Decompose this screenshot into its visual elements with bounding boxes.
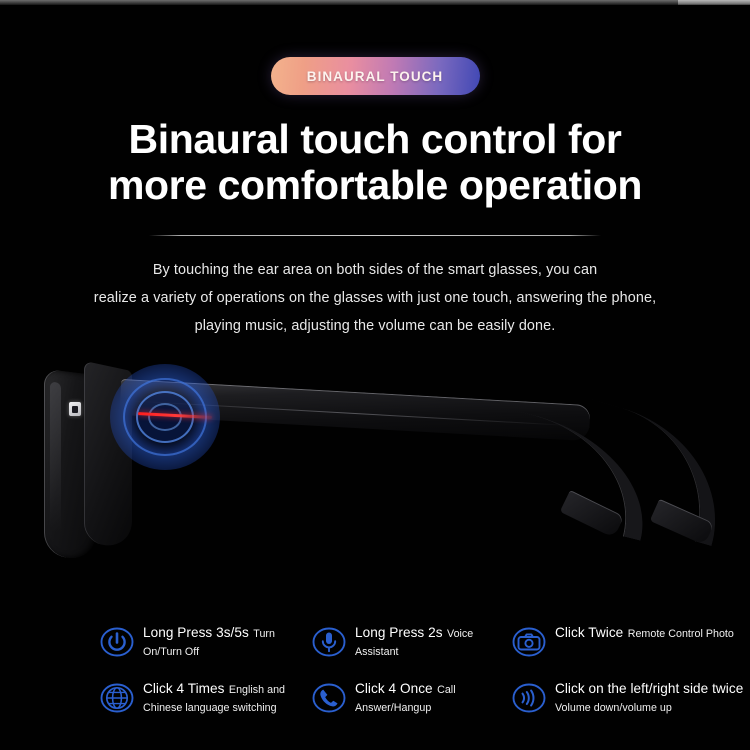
power-icon [100,625,134,659]
phone-icon [312,681,346,715]
feature-item-language-switch[interactable]: Click 4 Times English and Chinese langua… [100,679,312,733]
paragraph-line-1: By touching the ear area on both sides o… [25,256,725,284]
horizontal-divider [149,235,601,236]
sound-waves-icon [512,681,546,715]
feature-title: Click 4 Times [143,681,224,696]
divider-container [0,235,750,236]
page-title: Binaural touch control for more comforta… [0,117,750,209]
microphone-icon [312,625,346,659]
feature-title: Long Press 3s/5s [143,625,249,640]
page-content: BINAURAL TOUCH Binaural touch control fo… [0,5,750,750]
glasses-hinge-logo [69,402,81,416]
feature-item-remote-photo[interactable]: Click Twice Remote Control Photo [512,623,750,677]
badge-label: BINAURAL TOUCH [307,69,443,84]
feature-item-call-control[interactable]: Click 4 Once Call Answer/Hangup [312,679,512,733]
feature-subtitle: Remote Control Photo [628,628,734,640]
feature-item-volume-control[interactable]: Click on the left/right side twice Volum… [512,679,750,733]
feature-item-power[interactable]: Long Press 3s/5s Turn On/Turn Off [100,623,312,677]
feature-item-voice-assistant[interactable]: Long Press 2s Voice Assistant [312,623,512,677]
feature-title: Click 4 Once [355,681,433,696]
camera-icon [512,625,546,659]
feature-title: Click on the left/right side twice [555,681,743,696]
paragraph-line-3: playing music, adjusting the volume can … [25,312,725,340]
binaural-touch-badge: BINAURAL TOUCH [271,57,480,95]
feature-title: Click Twice [555,625,623,640]
badge-container: BINAURAL TOUCH [0,57,750,95]
product-image-smart-glasses [0,356,750,596]
feature-subtitle: Volume down/volume up [555,702,672,714]
headline-line-2: more comfortable operation [30,163,720,209]
paragraph-line-2: realize a variety of operations on the g… [25,284,725,312]
globe-icon [100,681,134,715]
headline-line-1: Binaural touch control for [129,116,622,162]
feature-title: Long Press 2s [355,625,443,640]
description-paragraph: By touching the ear area on both sides o… [25,256,725,340]
feature-grid: Long Press 3s/5s Turn On/Turn Off Long P… [100,623,750,733]
